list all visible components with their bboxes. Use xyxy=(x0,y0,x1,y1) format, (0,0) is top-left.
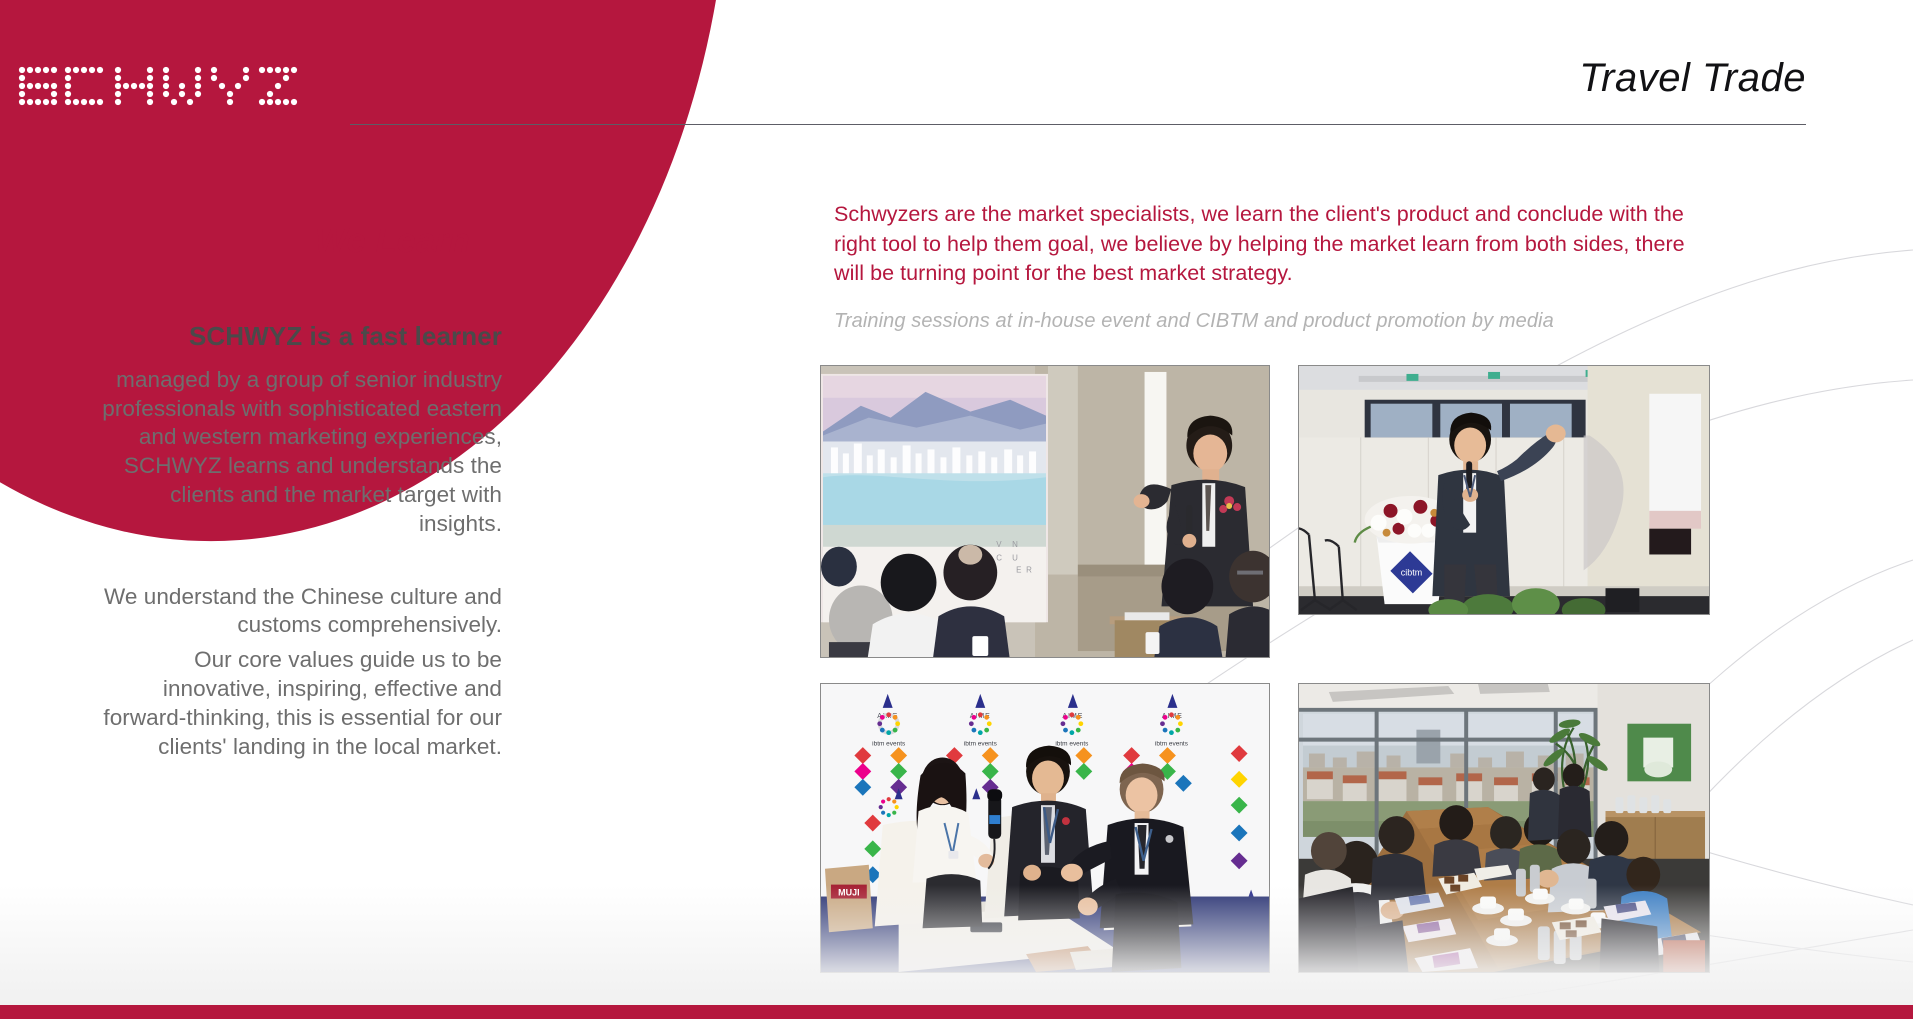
left-heading: SCHWYZ is a fast learner xyxy=(95,320,502,354)
left-paragraph-3: Our core values guide us to be innovativ… xyxy=(95,646,502,761)
header-divider xyxy=(350,124,1806,125)
lead-paragraph: Schwyzers are the market specialists, we… xyxy=(834,200,1714,289)
svg-text:cibtm: cibtm xyxy=(1401,567,1422,577)
photo-grid: VN CU ER xyxy=(820,365,1710,975)
photo-caption: Training sessions at in-house event and … xyxy=(834,310,1714,333)
svg-text:E: E xyxy=(1016,566,1021,575)
left-paragraph-1: managed by a group of senior industry pr… xyxy=(95,366,502,539)
svg-text:ibtm events: ibtm events xyxy=(1055,741,1088,748)
photo-top-left[interactable]: VN CU ER xyxy=(820,365,1270,658)
svg-text:U: U xyxy=(1012,554,1018,563)
section-title: We Learn xyxy=(120,222,665,261)
svg-text:C: C xyxy=(996,554,1002,563)
svg-text:ibtm events: ibtm events xyxy=(964,741,997,748)
photo-top-right[interactable]: cibtm xyxy=(1298,365,1710,615)
svg-text:ibtm events: ibtm events xyxy=(1155,741,1188,748)
schwyz-logo[interactable]: SCHWYZ xyxy=(14,62,314,128)
svg-text:V: V xyxy=(996,540,1002,549)
bottom-accent-bar xyxy=(0,1005,1913,1019)
svg-text:R: R xyxy=(1026,566,1032,575)
slide-canvas: SCHWYZ xyxy=(0,0,1913,1019)
svg-text:N: N xyxy=(1012,540,1018,549)
page-title: Travel Trade xyxy=(1579,56,1806,101)
left-paragraph-2: We understand the Chinese culture and cu… xyxy=(95,583,502,641)
bottom-gradient xyxy=(0,885,1913,1005)
svg-text:ibtm events: ibtm events xyxy=(872,741,905,748)
left-text-column: SCHWYZ is a fast learner managed by a gr… xyxy=(95,320,502,761)
